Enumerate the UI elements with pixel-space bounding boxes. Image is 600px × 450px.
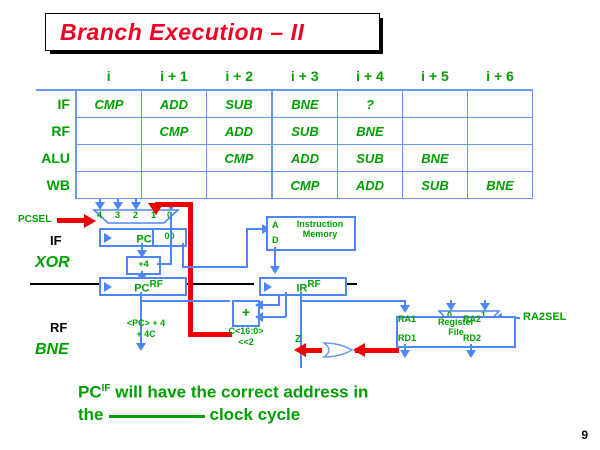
regfile-name-line2: File <box>448 327 464 337</box>
adder-input1-vertical <box>278 296 280 305</box>
cell-if-i3: BNE <box>272 90 338 118</box>
branch-path-red-vertical <box>188 202 193 337</box>
imem-name-line2: Memory <box>303 229 338 239</box>
ir-rf-superscript: RF <box>307 279 320 290</box>
cell-if-i2: SUB <box>207 90 273 118</box>
clock-triangle-icon-pcrf <box>104 282 112 292</box>
column-header-i5: i + 5 <box>403 63 468 90</box>
regfile-rd1-out-arrow-icon <box>400 350 410 358</box>
table-row-alu: ALU CMP ADD SUB BNE <box>36 145 533 172</box>
imem-addr-vertical <box>246 228 248 268</box>
z-label: Z <box>295 334 301 345</box>
clock-triangle-icon <box>104 233 112 243</box>
instruction-label-xor: XOR <box>35 254 70 272</box>
row-label-if: IF <box>36 90 76 118</box>
regfile-ra1-arrow-icon <box>400 305 410 313</box>
plus-four-label: +4 <box>128 258 159 271</box>
regfile-rd2-out-arrow-icon <box>466 350 476 358</box>
column-header-i3: i + 3 <box>272 63 338 90</box>
cell-alu-i2: CMP <box>207 145 273 172</box>
ir-bus-to-regfile-wire <box>300 300 406 302</box>
mux-in4-arrow-icon <box>95 202 105 210</box>
pipeline-table: i i + 1 i + 2 i + 3 i + 4 i + 5 i + 6 IF… <box>36 63 533 199</box>
cell-if-i6 <box>468 90 533 118</box>
branch-path-red-arrow-icon <box>148 203 164 215</box>
stage-label-if: IF <box>50 233 62 248</box>
plus-four-box: +4 <box>126 256 161 275</box>
ra2sel-label: RA2SEL <box>523 311 566 323</box>
pc-rf-superscript: RF <box>149 279 162 290</box>
row-label-alu: ALU <box>36 145 76 172</box>
pc-rf-to-adder-wire <box>140 300 230 302</box>
imem-data-port: D <box>272 235 279 245</box>
cell-rf-i3: SUB <box>272 118 338 145</box>
regfile-rd2-port: RD2 <box>463 333 481 343</box>
pc-rf-register: PCRF <box>99 277 187 296</box>
mux-in3-arrow-icon <box>113 202 123 210</box>
bottom-q-part4: clock cycle <box>210 405 301 424</box>
adder-input1-arrow-icon <box>255 300 263 310</box>
cell-wb-i6: BNE <box>468 172 533 199</box>
cell-alu-i <box>76 145 142 172</box>
table-row-if: IF CMP ADD SUB BNE ? <box>36 90 533 118</box>
page-number: 9 <box>581 428 588 442</box>
bottom-q-part2: will have the correct address in <box>111 383 369 402</box>
mux-pcsel-input-3: 3 <box>115 210 120 220</box>
pcsel-label: PCSEL <box>18 214 51 225</box>
row-label-rf: RF <box>36 118 76 145</box>
row-label-wb: WB <box>36 172 76 199</box>
plus4-feedback-vertical <box>170 212 172 264</box>
imem-data-arrow-icon <box>270 266 280 274</box>
answer-blank[interactable] <box>109 403 205 418</box>
cell-alu-i1 <box>142 145 207 172</box>
stage-label-rf: RF <box>50 320 67 335</box>
cell-rf-i6 <box>468 118 533 145</box>
mux-ra2sel-in1-arrow-icon <box>480 303 490 311</box>
table-row-rf: RF CMP ADD SUB BNE <box>36 118 533 145</box>
z-output-red-arrow-icon <box>294 343 306 357</box>
cell-wb-i2 <box>207 172 273 199</box>
table-corner-cell <box>36 63 76 90</box>
column-header-i4: i + 4 <box>338 63 403 90</box>
bottom-q-part3: the <box>78 405 104 424</box>
bottom-question: PCIF will have the correct address in th… <box>78 378 508 425</box>
pcsel-red-wire <box>57 218 87 223</box>
cell-rf-i <box>76 118 142 145</box>
cell-wb-i1 <box>142 172 207 199</box>
regfile-ra2-port: RA2 <box>463 314 481 324</box>
slide-canvas: Branch Execution – II i i + 1 i + 2 i + … <box>0 0 600 450</box>
regfile-ra1-port: RA1 <box>398 314 416 324</box>
pc-if-label: PC <box>136 233 151 245</box>
table-row-wb: WB CMP ADD SUB BNE <box>36 172 533 199</box>
branch-adder-note-line1: C<16:0> <box>228 326 263 336</box>
cell-wb-i <box>76 172 142 199</box>
column-header-i: i <box>76 63 142 90</box>
pc-rf-down-arrow-icon <box>136 343 146 351</box>
branch-adder-note-line2: <<2 <box>238 337 254 347</box>
cell-alu-i5: BNE <box>403 145 468 172</box>
mux-in2-arrow-icon <box>131 202 141 210</box>
cell-alu-i6 <box>468 145 533 172</box>
ir-to-adder-vertical <box>285 292 287 317</box>
plus4-feedback-horizontal <box>157 263 172 265</box>
cell-alu-i3: ADD <box>272 145 338 172</box>
regfile-rd1-port: RD1 <box>398 333 416 343</box>
cell-if-i5 <box>403 90 468 118</box>
cell-if-i1: ADD <box>142 90 207 118</box>
mux-pcsel-input-4: 4 <box>97 210 102 220</box>
adder-input2-arrow-icon <box>255 312 263 322</box>
cell-wb-i5: SUB <box>403 172 468 199</box>
pc-annotation-line2: + 4C <box>136 329 155 339</box>
cell-wb-i4: ADD <box>338 172 403 199</box>
instruction-memory-box: A D Instruction Memory <box>266 216 356 251</box>
imem-addr-port: A <box>272 220 279 230</box>
cell-rf-i2: ADD <box>207 118 273 145</box>
cell-rf-i5 <box>403 118 468 145</box>
cell-if-i: CMP <box>76 90 142 118</box>
cell-rf-i4: BNE <box>338 118 403 145</box>
cell-rf-i1: CMP <box>142 118 207 145</box>
z-comparator-gate-icon <box>320 341 356 359</box>
bottom-q-superscript: IF <box>102 383 111 394</box>
clock-triangle-icon-irrf <box>264 282 272 292</box>
pc-annotation-line1: <PC> + 4 <box>127 318 165 328</box>
imem-name-line1: Instruction <box>297 219 344 229</box>
mux-pcsel-input-2: 2 <box>133 210 138 220</box>
cell-wb-i3: CMP <box>272 172 338 199</box>
page-title: Branch Execution – II <box>46 19 304 46</box>
pc-if-addr-horizontal <box>182 266 248 268</box>
title-box: Branch Execution – II <box>45 13 380 51</box>
pc-if-addr-vertical <box>182 243 184 267</box>
column-header-i6: i + 6 <box>468 63 533 90</box>
bottom-q-part1: PC <box>78 383 102 402</box>
table-header-row: i i + 1 i + 2 i + 3 i + 4 i + 5 i + 6 <box>36 63 533 90</box>
column-header-i1: i + 1 <box>142 63 207 90</box>
instruction-label-bne: BNE <box>35 341 69 359</box>
cell-if-i4: ? <box>338 90 403 118</box>
column-header-i2: i + 2 <box>207 63 273 90</box>
mux-ra2sel-in0-arrow-icon <box>446 303 456 311</box>
cell-alu-i4: SUB <box>338 145 403 172</box>
z-input-red-arrow-icon <box>353 343 365 357</box>
ir-rf-register: IRRF <box>259 277 347 296</box>
